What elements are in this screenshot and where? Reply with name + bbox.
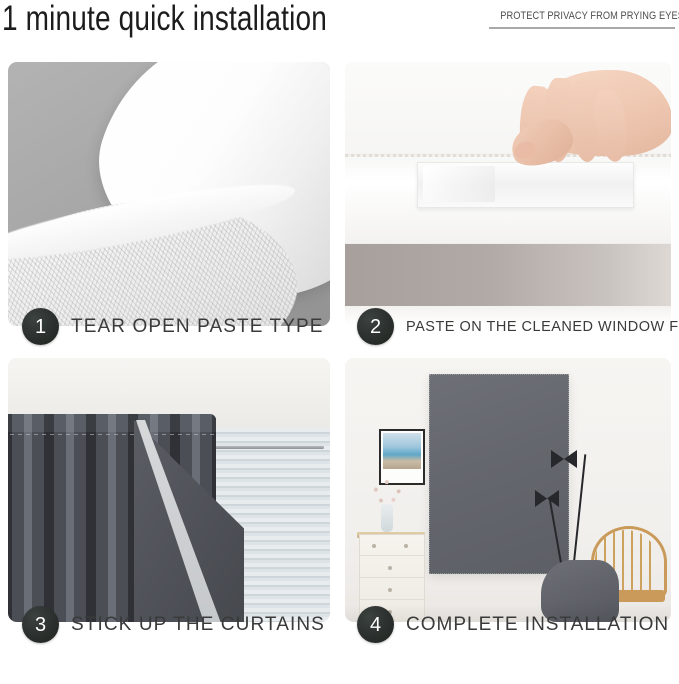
step-4-caption: 4 COMPLETE INSTALLATION [357,606,669,643]
step-number-badge-3: 3 [22,606,59,643]
drawer-knob-icon [372,544,376,548]
step-caption-text-2: PASTE ON THE CLEANED WINDOW FRAME [406,319,679,335]
drawer-knob-icon [388,566,392,570]
step-card-3: 3 STICK UP THE CURTAINS [8,358,338,653]
hand-icon [510,70,670,188]
step-number-badge-2: 2 [357,308,394,345]
curtain-photo-stitch-line [8,434,216,435]
tagline-text: PROTECT PRIVACY FROM PRYING EYES [500,10,660,22]
step-4-photo [345,358,671,622]
curtain-photo-curtain-header [8,414,216,432]
step-caption-text-4: COMPLETE INSTALLATION [406,614,669,636]
step-3-photo [8,358,330,622]
curtain-photo-rod [198,446,324,449]
step-number-badge-4: 4 [357,606,394,643]
room-photo-installed-curtain [429,374,569,574]
step-3-caption: 3 STICK UP THE CURTAINS [22,606,325,643]
step-number-badge-1: 1 [22,308,59,345]
step-caption-text-1: TEAR OPEN PASTE TYPE [71,316,324,338]
step-caption-text-3: STICK UP THE CURTAINS [71,614,325,636]
steps-grid: 1 TEAR OPEN PASTE TYPE [0,60,679,660]
room-photo-drawer-2 [360,557,424,578]
step-2-caption: 2 PASTE ON THE CLEANED WINDOW FRAME [357,308,679,345]
room-photo-artwork [383,433,421,469]
frame-photo-grey-band [345,244,671,306]
room-photo-drawer-3 [360,579,424,600]
step-1-photo [8,62,330,326]
step-card-2: 2 PASTE ON THE CLEANED WINDOW FRAME [345,62,675,357]
header: 1 minute quick installation PROTECT PRIV… [0,0,679,60]
frame-photo-strip-highlight [423,166,495,202]
room-photo-drawer-1 [360,535,424,556]
step-2-photo [345,62,671,326]
drawer-knob-icon [388,588,392,592]
step-card-1: 1 TEAR OPEN PASTE TYPE [8,62,338,357]
page-title: 1 minute quick installation [2,0,327,42]
tagline-block: PROTECT PRIVACY FROM PRYING EYES [485,10,675,29]
room-photo-glass-vase [381,504,393,532]
step-card-4: 4 COMPLETE INSTALLATION [345,358,675,653]
step-1-caption: 1 TEAR OPEN PASTE TYPE [22,308,324,345]
tagline-divider [489,27,675,29]
drawer-knob-icon [404,544,408,548]
